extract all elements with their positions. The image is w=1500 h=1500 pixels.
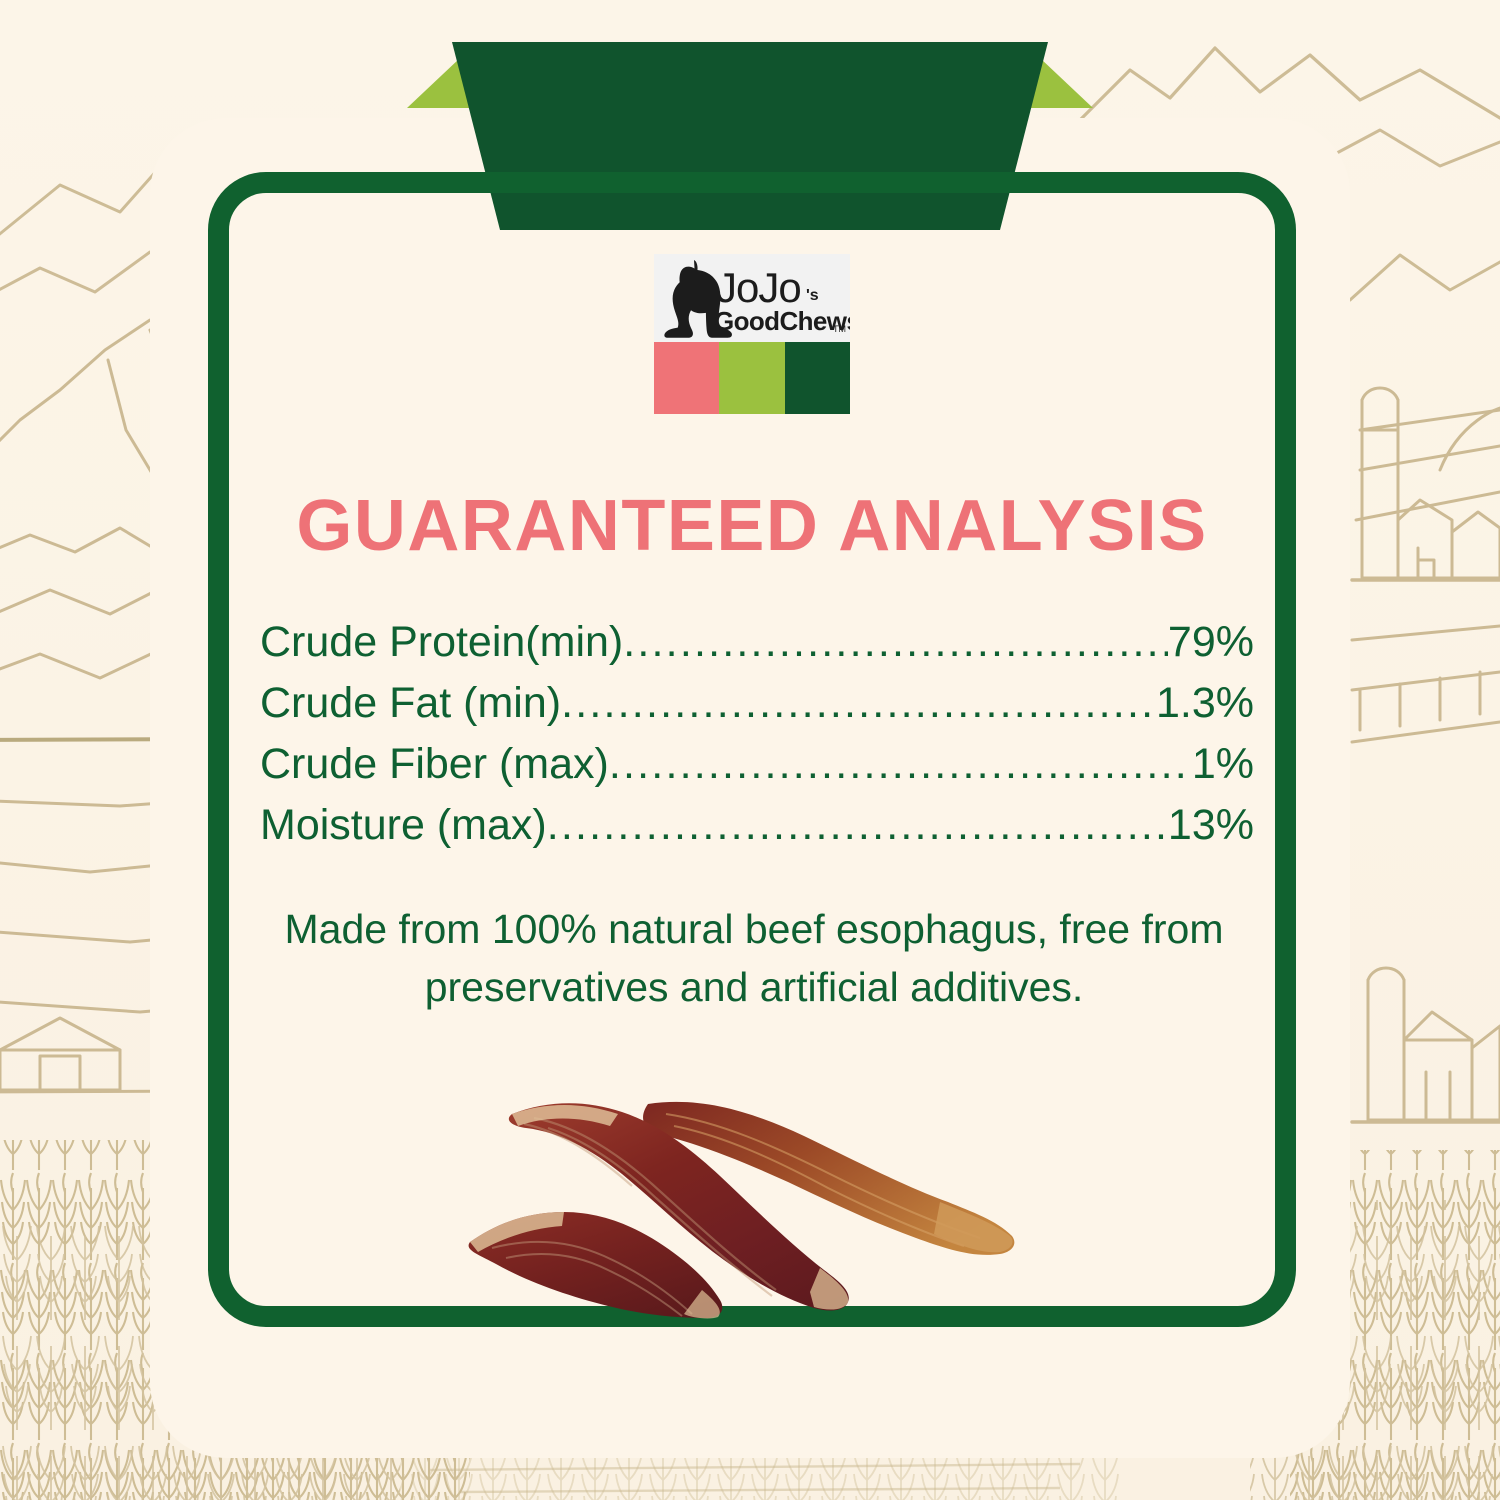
analysis-dots: ........................................… (609, 734, 1192, 795)
product-description: Made from 100% natural beef esophagus, f… (252, 900, 1256, 1016)
svg-text:'s: 's (806, 287, 819, 304)
analysis-label: Moisture (max) (260, 795, 547, 856)
analysis-value: 1% (1192, 734, 1254, 795)
analysis-row: Crude Protein(min) .....................… (260, 612, 1254, 673)
brand-swatches (654, 342, 850, 414)
swatch-green (785, 342, 850, 414)
analysis-dots: ........................................… (623, 612, 1168, 673)
swatch-coral (654, 342, 719, 414)
card-content: JoJo 's GoodChews TM GUARANTEED ANALYSIS… (208, 172, 1296, 1327)
analysis-label: Crude Fat (min) (260, 673, 561, 734)
guaranteed-analysis-list: Crude Protein(min) .....................… (260, 612, 1254, 856)
analysis-dots: ........................................… (561, 673, 1156, 734)
analysis-label: Crude Fiber (max) (260, 734, 609, 795)
swatch-lime (719, 342, 784, 414)
analysis-dots: ........................................… (547, 795, 1168, 856)
brand-logo: JoJo 's GoodChews TM (654, 254, 850, 414)
analysis-row: Crude Fiber (max) ......................… (260, 734, 1254, 795)
analysis-row: Crude Fat (min) ........................… (260, 673, 1254, 734)
analysis-value: 13% (1168, 795, 1254, 856)
svg-text:GoodChews: GoodChews (714, 306, 850, 336)
logo-mark: JoJo 's GoodChews TM (654, 254, 850, 342)
analysis-value: 1.3% (1156, 673, 1254, 734)
analysis-value: 79% (1168, 612, 1254, 673)
svg-text:JoJo: JoJo (716, 264, 801, 311)
svg-text:TM: TM (833, 324, 846, 334)
analysis-label: Crude Protein(min) (260, 612, 623, 673)
analysis-row: Moisture (max) .........................… (260, 795, 1254, 856)
page-title: GUARANTEED ANALYSIS (208, 490, 1296, 562)
product-image (452, 1052, 1052, 1320)
